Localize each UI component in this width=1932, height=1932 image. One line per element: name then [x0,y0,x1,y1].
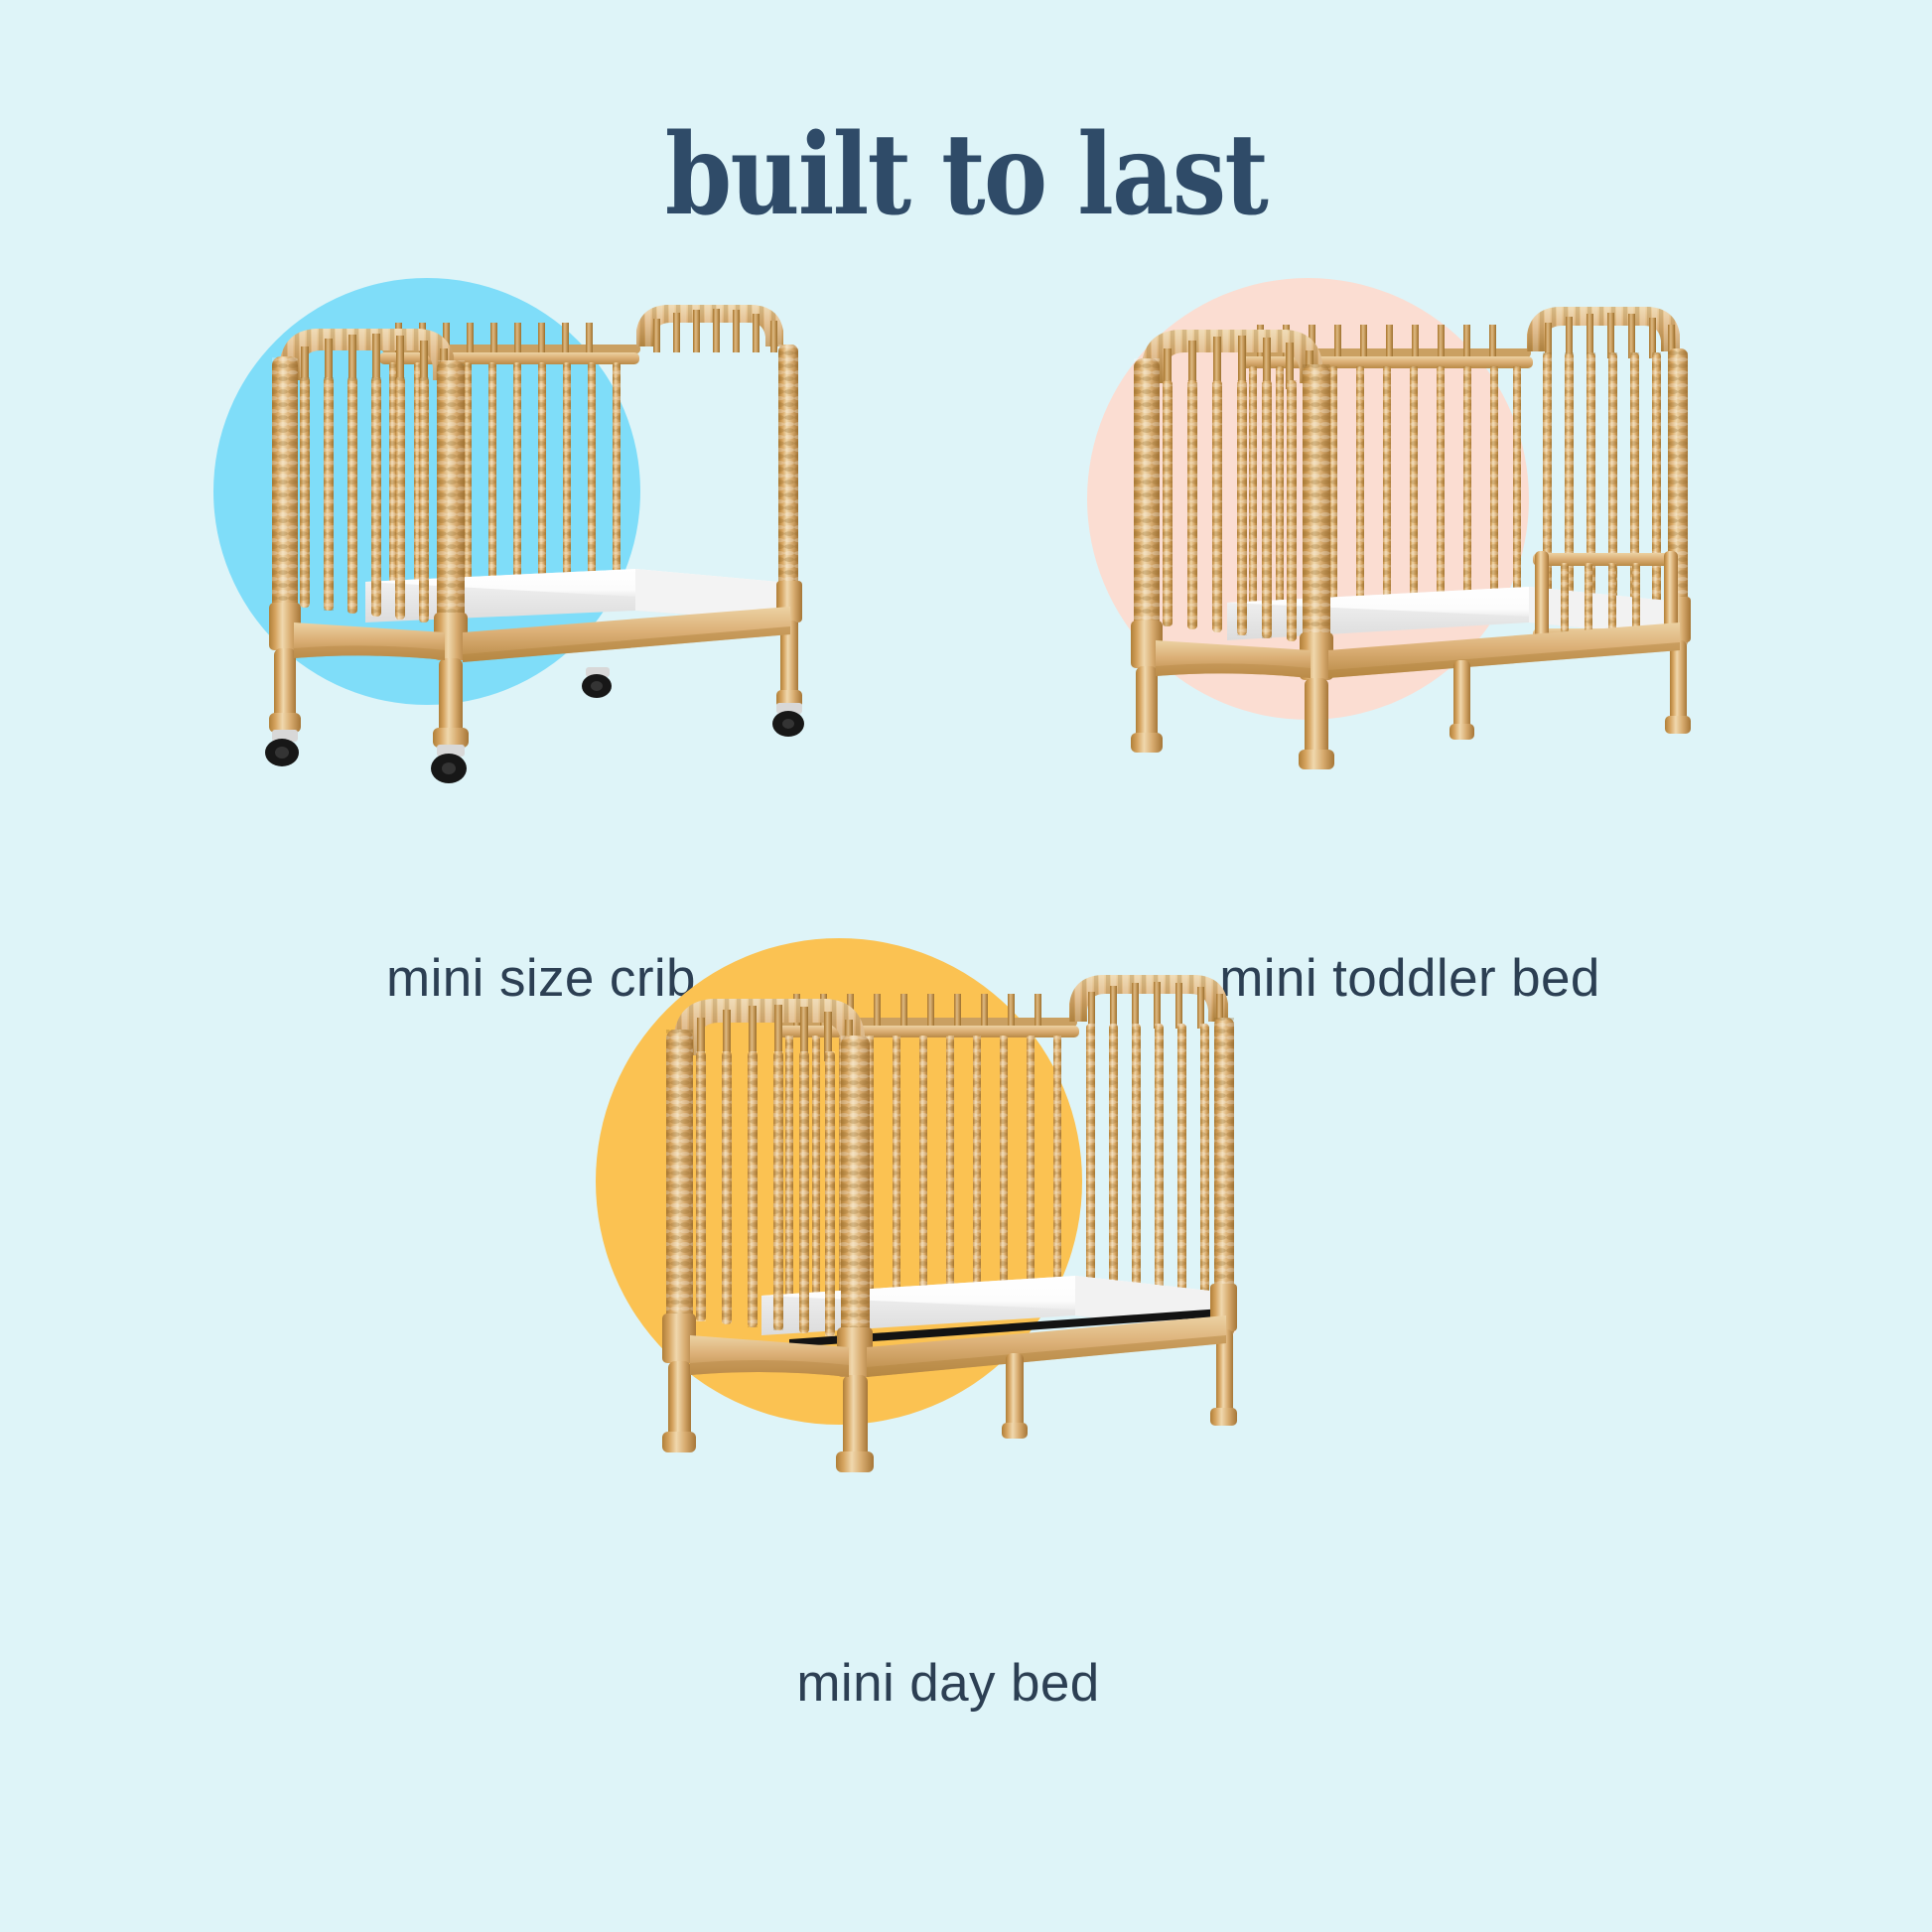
product-art-mini-toddler-bed: mini toddler bed [1033,253,1787,809]
daybed-right-headboard [1069,975,1228,1307]
caster-back-right [772,703,804,737]
crib-casters [265,667,804,783]
product-art-mini-day-bed: mini day bed [551,918,1345,1504]
toddler-front-base-rail [1156,640,1311,678]
daybed-right-rear-post [1210,1018,1237,1426]
mini-size-crib-illustration [169,253,913,809]
toddler-left-front-post [1131,358,1163,753]
daybed-left-headboard [674,999,865,1336]
crib-center-post [433,360,469,748]
mini-toddler-bed-illustration [1033,253,1787,809]
crib-right-headboard [636,305,783,352]
crib-left-headboard [280,329,455,622]
toddler-bed-body [1131,307,1691,769]
crib-front-base-rail [294,622,445,660]
page-title: built to last [135,117,1797,234]
crib-body [265,305,804,783]
caster-front-left [265,730,299,766]
product-cell-mini-size-crib: mini size crib [169,253,913,809]
daybed-far-side-rail [775,1026,1079,1302]
day-bed-body [662,975,1237,1472]
daybed-mid-leg [1002,1353,1028,1439]
product-caption-mini-day-bed: mini day bed [551,1653,1345,1714]
caster-front-center [431,745,467,783]
infographic-canvas: built to last [0,0,1932,1932]
crib-left-front-post [269,356,301,733]
daybed-center-post [836,1035,874,1472]
crib-right-end-frame [776,345,802,708]
product-cell-mini-toddler-bed: mini toddler bed [1033,253,1787,809]
crib-far-side-rail [379,352,639,597]
caster-mid-right [582,667,612,698]
toddler-right-rear-post [1665,348,1691,734]
product-cell-mini-day-bed: mini day bed [551,918,1345,1504]
toddler-center-post [1299,364,1334,769]
mini-day-bed-illustration [551,918,1345,1504]
toddler-far-side-rail [1239,356,1533,617]
toddler-mid-leg [1449,660,1474,740]
toddler-left-headboard [1142,330,1322,641]
daybed-left-front-post [662,1030,696,1452]
product-art-mini-size-crib: mini size crib [169,253,913,809]
